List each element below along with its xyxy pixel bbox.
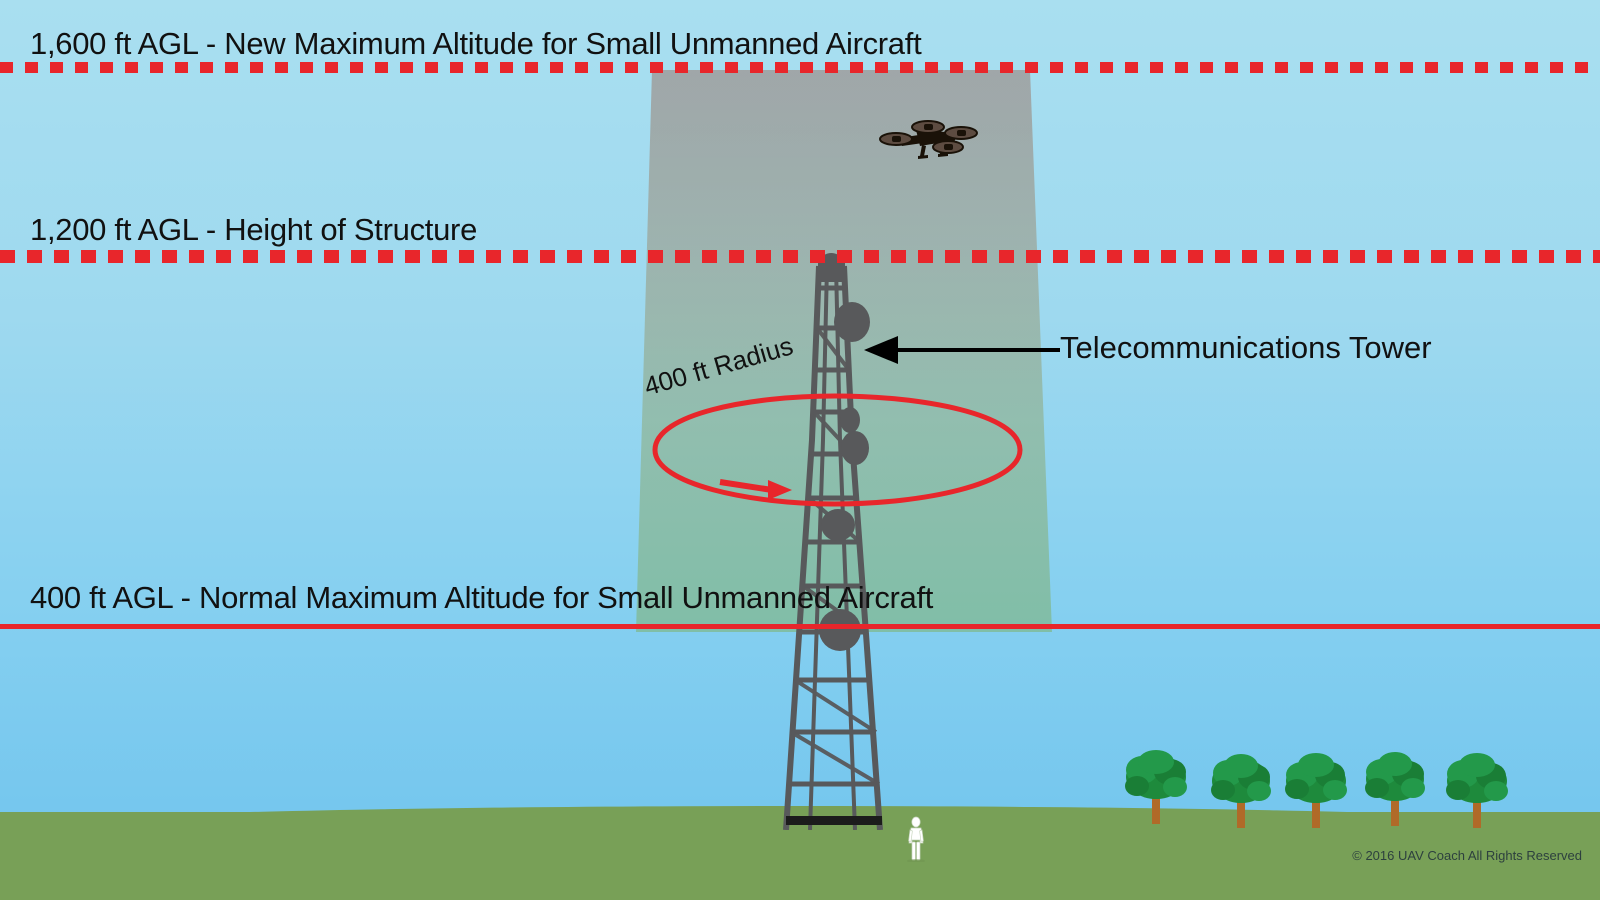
tower-callout-arrow [860, 330, 1060, 370]
telecommunications-tower [700, 240, 960, 830]
copyright-notice: © 2016 UAV Coach All Rights Reserved [1352, 848, 1582, 863]
tree-icon [1208, 746, 1274, 828]
quadcopter-drone-icon [878, 116, 978, 162]
altitude-label-400: 400 ft AGL - Normal Maximum Altitude for… [30, 580, 933, 616]
altitude-label-1600: 1,600 ft AGL - New Maximum Altitude for … [30, 26, 921, 62]
person-icon [903, 816, 929, 862]
tree-icon [1444, 746, 1510, 828]
diagram-canvas: 400 ft Radius [0, 0, 1600, 900]
altitude-line-1600 [0, 62, 1600, 73]
altitude-line-400 [0, 624, 1600, 629]
tree-icon [1283, 746, 1349, 828]
altitude-label-1200: 1,200 ft AGL - Height of Structure [30, 212, 477, 248]
tree-icon [1362, 744, 1428, 826]
tree-icon [1123, 742, 1189, 824]
radius-ellipse [600, 380, 1070, 520]
altitude-line-1200 [0, 250, 1600, 263]
tower-callout-label: Telecommunications Tower [1060, 330, 1432, 366]
